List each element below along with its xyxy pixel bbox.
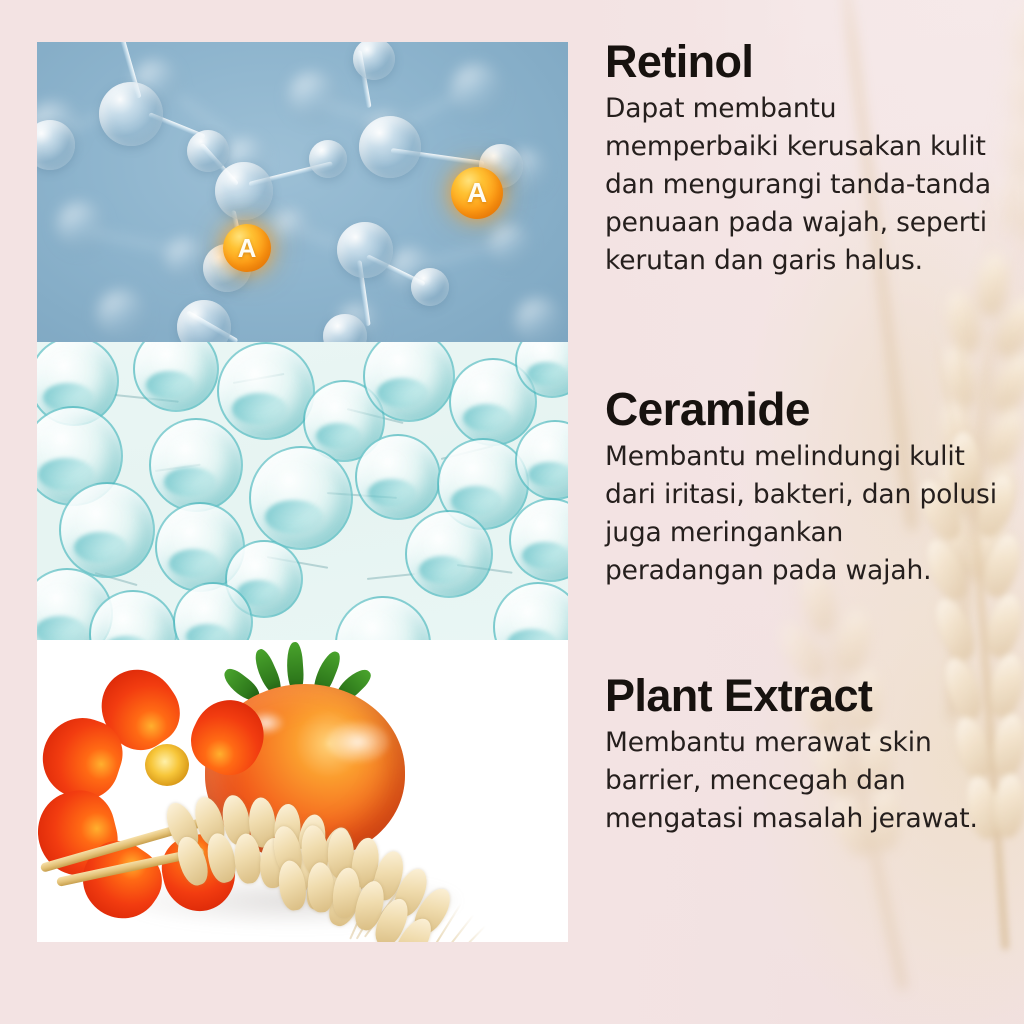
molecule-atom [309,140,347,178]
molecule-atom [99,82,163,146]
ceramide-bubble [249,446,353,550]
molecule-foreground-layer: A A [37,42,568,342]
molecule-atom [353,42,395,80]
ceramide-bubble [405,510,493,598]
vitamin-a-badge: A [223,224,271,272]
text-column: Retinol Dapat membantu memperbaiki kerus… [605,0,1005,1024]
vitamin-a-badge-label: A [467,177,487,209]
section-plant-extract: Plant Extract Membantu merawat skin barr… [605,672,1000,838]
molecule-atom [337,222,393,278]
ceramide-bubble [355,434,441,520]
section-body-plant-extract: Membantu merawat skin barrier, mencegah … [605,724,1000,838]
section-heading-ceramide: Ceramide [605,385,1000,434]
molecule-atom [177,300,231,342]
ceramide-bubble [217,342,315,440]
section-heading-retinol: Retinol [605,38,1000,86]
vitamin-a-badge-label: A [238,233,257,264]
section-body-retinol: Dapat membantu memperbaiki kerusakan kul… [605,90,1000,280]
molecule-atom [215,162,273,220]
ingredient-infographic-poster: A A [0,0,1024,1024]
retinol-molecule-photo: A A [37,42,568,342]
molecule-atom [411,268,449,306]
vitamin-a-badge: A [451,167,503,219]
molecule-atom [37,120,75,170]
ceramide-bubble [149,418,243,512]
molecule-atom [187,130,229,172]
photo-column: A A [37,42,568,942]
ceramide-bubble [133,342,219,412]
ceramide-bubble [59,482,155,578]
molecule-atom [359,116,421,178]
molecule-atom [323,314,367,342]
section-retinol: Retinol Dapat membantu memperbaiki kerus… [605,38,1000,280]
ceramide-bubble [493,582,568,640]
plant-extract-photo [37,640,568,942]
section-body-ceramide: Membantu melindungi kulit dari iritasi, … [605,438,1000,590]
section-heading-plant-extract: Plant Extract [605,672,1000,720]
section-ceramide: Ceramide Membantu melindungi kulit dari … [605,385,1000,590]
ceramide-bubble [335,596,431,640]
ceramide-bubbles-photo [37,342,568,640]
